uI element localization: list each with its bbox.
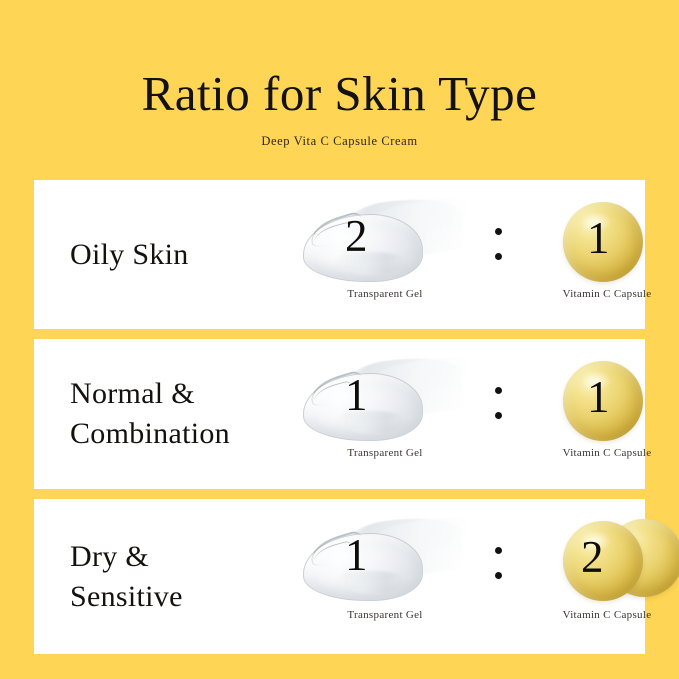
skin-type-line: Combination [70, 414, 289, 454]
colon-dot-top-icon [495, 387, 502, 394]
capsule-caption: Vitamin C Capsule [517, 288, 679, 300]
ratio-separator [485, 180, 511, 329]
ratio-row-normal-combination: Normal & Combination 1 [34, 339, 645, 489]
skin-type-line: Normal & [70, 374, 289, 414]
capsule-item: 2 Vitamin C Capsule [517, 499, 679, 654]
colon-dot-top-icon [495, 228, 502, 235]
poster-header: Ratio for Skin Type Deep Vita C Capsule … [0, 0, 679, 149]
skin-type-label: Normal & Combination [34, 374, 289, 454]
capsule-amount-number: 1 [587, 375, 610, 420]
skin-type-label: Dry & Sensitive [34, 537, 289, 617]
gel-amount-number: 2 [345, 214, 368, 259]
capsule-amount-number: 2 [581, 535, 604, 580]
ratio-row-dry-sensitive: Dry & Sensitive 1 [34, 499, 645, 654]
capsule-art: 1 [517, 198, 679, 284]
skin-type-line: Dry & [70, 537, 289, 577]
gel-item: 2 Transparent Gel [295, 180, 475, 329]
capsule-art: 1 [517, 357, 679, 443]
gel-item: 1 Transparent Gel [295, 339, 475, 489]
skin-type-line: Sensitive [70, 577, 289, 617]
ratio-row-oily-skin: Oily Skin 2 Tra [34, 180, 645, 329]
ratio-visual: 2 Transparent Gel 1 [289, 180, 645, 329]
ratio-poster: Ratio for Skin Type Deep Vita C Capsule … [0, 0, 679, 679]
capsule-item: 1 Vitamin C Capsule [517, 180, 679, 329]
gel-smear-icon [303, 357, 473, 443]
page-subtitle: Deep Vita C Capsule Cream [0, 122, 679, 149]
page-title: Ratio for Skin Type [0, 0, 679, 122]
skin-type-line: Oily Skin [70, 235, 289, 275]
gel-item: 1 Transparent Gel [295, 499, 475, 654]
colon-dot-bottom-icon [495, 572, 502, 579]
capsule-art: 2 [517, 517, 679, 603]
ratio-visual: 1 Transparent Gel 1 [289, 339, 645, 489]
gel-amount-number: 1 [345, 373, 368, 418]
gel-smear-icon [303, 198, 473, 284]
capsule-amount-number: 1 [587, 216, 610, 261]
ratio-separator [485, 499, 511, 654]
gel-amount-number: 1 [345, 533, 368, 578]
capsule-item: 1 Vitamin C Capsule [517, 339, 679, 489]
ratio-card-list: Oily Skin 2 Tra [34, 180, 645, 654]
gel-caption: Transparent Gel [295, 288, 475, 300]
ratio-separator [485, 339, 511, 489]
gel-art: 1 [295, 357, 475, 443]
gel-caption: Transparent Gel [295, 447, 475, 459]
gel-caption: Transparent Gel [295, 609, 475, 621]
colon-dot-bottom-icon [495, 253, 502, 260]
colon-dot-top-icon [495, 547, 502, 554]
capsule-caption: Vitamin C Capsule [517, 447, 679, 459]
colon-dot-bottom-icon [495, 412, 502, 419]
capsule-caption: Vitamin C Capsule [517, 609, 679, 621]
gel-smear-icon [303, 517, 473, 603]
gel-art: 2 [295, 198, 475, 284]
skin-type-label: Oily Skin [34, 235, 289, 275]
gel-art: 1 [295, 517, 475, 603]
ratio-visual: 1 Transparent Gel 2 [289, 499, 645, 654]
